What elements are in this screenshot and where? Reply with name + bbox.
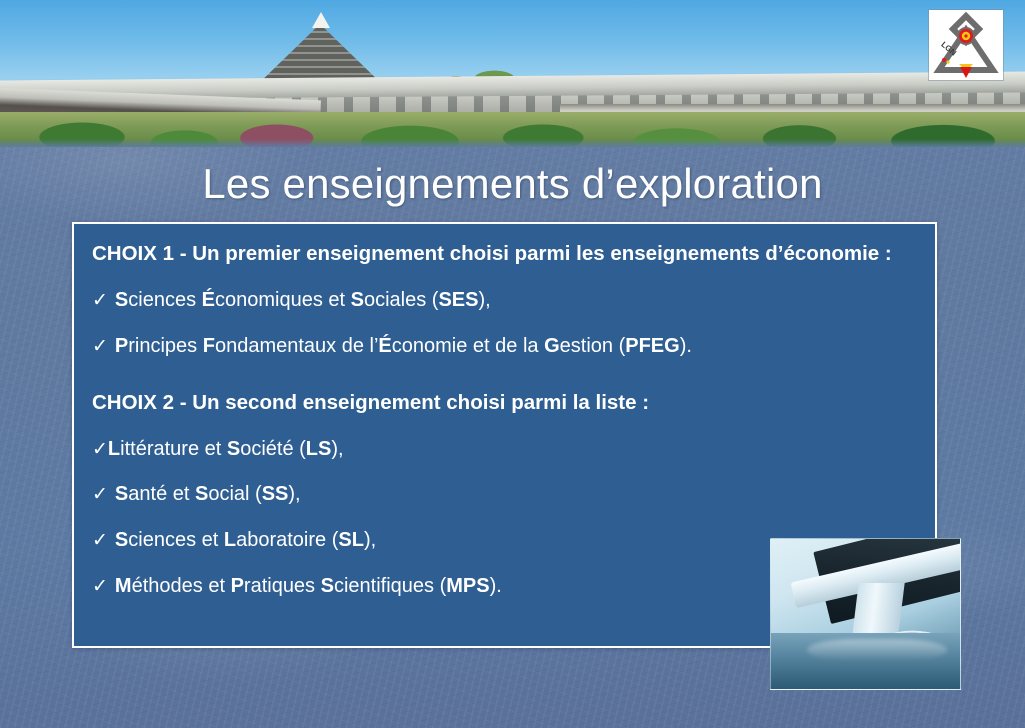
checkmark-icon: ✓ bbox=[92, 530, 108, 551]
list-item-label: Santé et Social (SS), bbox=[115, 483, 301, 505]
checkmark-icon: ✓ bbox=[92, 290, 108, 311]
list-item: ✓Principes Fondamentaux de l’Économie et… bbox=[86, 334, 917, 359]
lgn-logo: LGN bbox=[929, 10, 1003, 80]
slide: LGN Les enseignements d’exploration CHOI… bbox=[0, 0, 1025, 728]
checkmark-icon: ✓ bbox=[92, 484, 108, 505]
list-item-label: Sciences Économiques et Sociales (SES), bbox=[115, 289, 491, 311]
desk-monitor-photo bbox=[770, 538, 961, 690]
choix1-heading: CHOIX 1 - Un premier enseignement choisi… bbox=[86, 240, 917, 267]
page-title: Les enseignements d’exploration bbox=[0, 160, 1025, 208]
header-photo bbox=[0, 0, 1025, 147]
checkmark-icon: ✓ bbox=[92, 576, 108, 597]
list-item: ✓Sciences Économiques et Sociales (SES), bbox=[86, 288, 917, 313]
choix2-heading: CHOIX 2 - Un second enseignement choisi … bbox=[86, 389, 917, 416]
checkmark-icon: ✓ bbox=[92, 439, 108, 460]
roof-finial bbox=[312, 12, 330, 28]
choix1-list: ✓Sciences Économiques et Sociales (SES),… bbox=[86, 288, 917, 359]
list-item: ✓Santé et Social (SS), bbox=[86, 482, 917, 507]
list-item-label: Principes Fondamentaux de l’Économie et … bbox=[115, 335, 692, 357]
header-photo-fade bbox=[0, 139, 1025, 147]
list-item: ✓Littérature et Société (LS), bbox=[86, 437, 917, 462]
list-item-label: Sciences et Laboratoire (SL), bbox=[115, 529, 376, 551]
list-item-label: Littérature et Société (LS), bbox=[108, 438, 344, 460]
desk-reflection bbox=[807, 639, 947, 661]
checkmark-icon: ✓ bbox=[92, 336, 108, 357]
list-item-label: Méthodes et Pratiques Scientifiques (MPS… bbox=[115, 575, 502, 597]
